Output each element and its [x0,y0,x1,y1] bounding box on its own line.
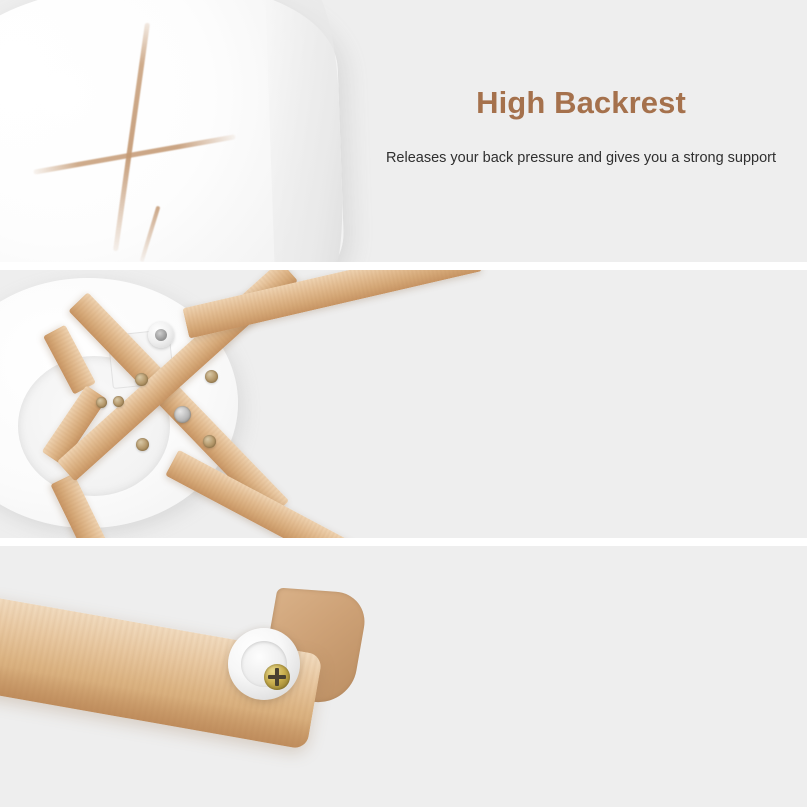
feature-panel-high-backrest: High Backrest Releases your back pressur… [0,0,807,262]
foot-pad-phillips-screw [264,664,290,690]
photo-wood-cross-structure [0,270,470,538]
panel-divider-1 [0,262,807,270]
photo-foot-pad [0,546,420,807]
panel-divider-2 [0,538,807,546]
phillips-slot-horizontal [268,675,286,679]
screw-cross-1 [135,373,148,386]
product-feature-infographic: High Backrest Releases your back pressur… [0,0,807,807]
screw-center-hub [174,406,191,423]
screw-cross-3 [136,438,149,451]
chair-shell-edge-shadow [265,0,345,262]
screw-white-cap [148,322,174,348]
feature-panel-wood-cross-structure: Wood Cross Structure Sturdy x-shape supp… [0,270,807,538]
non-noise-foot-pad [228,628,300,700]
wood-leg-upper-right [183,270,482,339]
screw-cross-4 [203,435,216,448]
foot-pad-ring [241,641,287,687]
feature-panel-non-noise-foot-pads: Non-Noise Foot Pads To protect the floor… [0,546,807,807]
feature-text-high-backrest: High Backrest Releases your back pressur… [355,86,807,168]
chair-shell-shape [0,0,345,262]
feature-description-high-backrest: Releases your back pressure and gives yo… [355,149,807,168]
photo-chair-backrest [0,0,360,262]
screw-plate-1 [96,397,107,408]
screw-cross-2 [205,370,218,383]
screw-plate-2 [113,396,124,407]
feature-title-high-backrest: High Backrest [355,86,807,120]
